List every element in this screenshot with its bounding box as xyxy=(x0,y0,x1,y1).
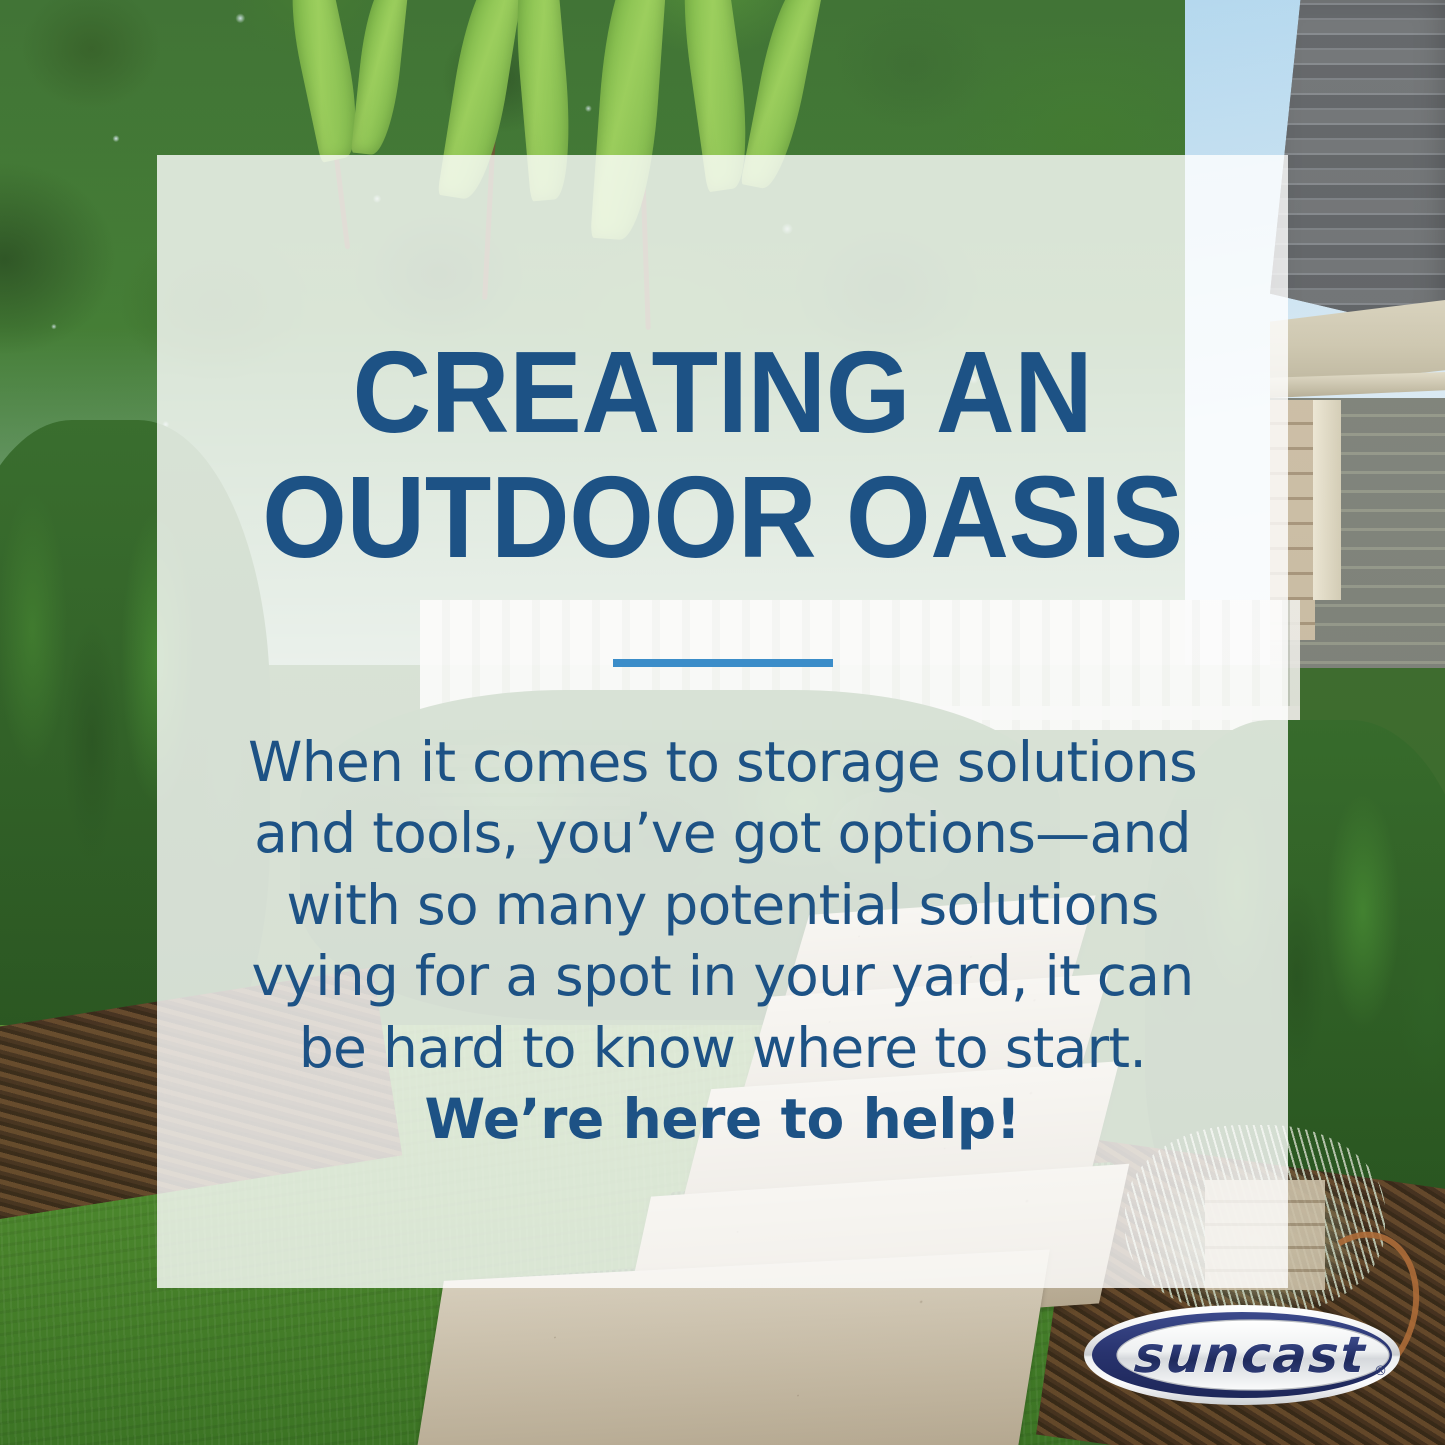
registered-trademark-symbol: ® xyxy=(1374,1364,1387,1379)
body-line-6-emphasis: We’re here to help! xyxy=(197,1084,1248,1156)
headline-line-1: CREATING AN xyxy=(229,330,1217,455)
page-title: CREATING AN OUTDOOR OASIS xyxy=(229,155,1217,581)
body-line-3: with so many potential solutions xyxy=(197,870,1248,942)
house-window-trim xyxy=(1313,400,1341,600)
social-graphic-card: CREATING AN OUTDOOR OASIS When it comes … xyxy=(0,0,1445,1445)
body-line-1: When it comes to storage solutions xyxy=(197,727,1248,799)
body-line-4: vying for a spot in your yard, it can xyxy=(197,941,1248,1013)
suncast-logo: suncast ® xyxy=(1082,1303,1402,1407)
accent-divider xyxy=(613,659,833,667)
headline-line-2: OUTDOOR OASIS xyxy=(229,455,1217,580)
suncast-logo-svg: suncast ® xyxy=(1082,1303,1402,1407)
suncast-wordmark: suncast xyxy=(1132,1326,1368,1384)
content-overlay-panel: CREATING AN OUTDOOR OASIS When it comes … xyxy=(157,155,1288,1288)
body-line-2: and tools, you’ve got options—and xyxy=(197,798,1248,870)
house-roof-shingles xyxy=(1270,0,1445,335)
body-copy: When it comes to storage solutions and t… xyxy=(197,727,1248,1156)
body-line-5: be hard to know where to start. xyxy=(197,1013,1248,1085)
